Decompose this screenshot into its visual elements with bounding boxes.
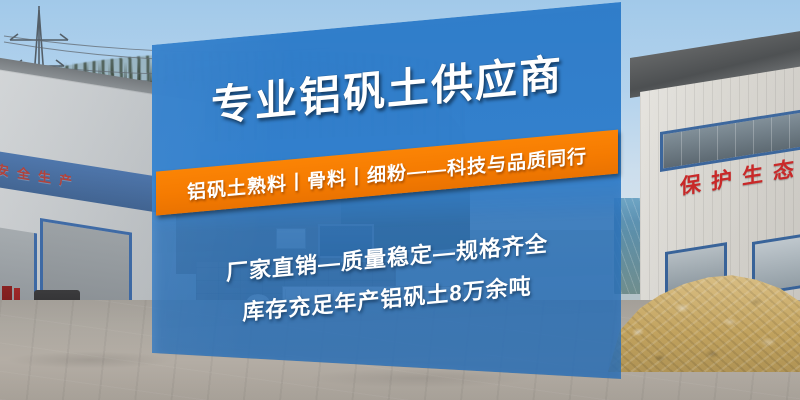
- page-title: 专业铝矾土供应商: [152, 35, 622, 139]
- orange-bar-label: 铝矾土熟料丨骨料丨细粉——科技与品质同行: [187, 141, 587, 204]
- billboard-content: 专业铝矾土供应商 铝矾土熟料丨骨料丨细粉——科技与品质同行 厂家直销—质量稳定—…: [152, 0, 622, 400]
- banner-stage: 安全生产 保护生态 专业铝矾土供: [0, 0, 800, 400]
- orange-highlight-bar: 铝矾土熟料丨骨料丨细粉——科技与品质同行: [156, 130, 618, 216]
